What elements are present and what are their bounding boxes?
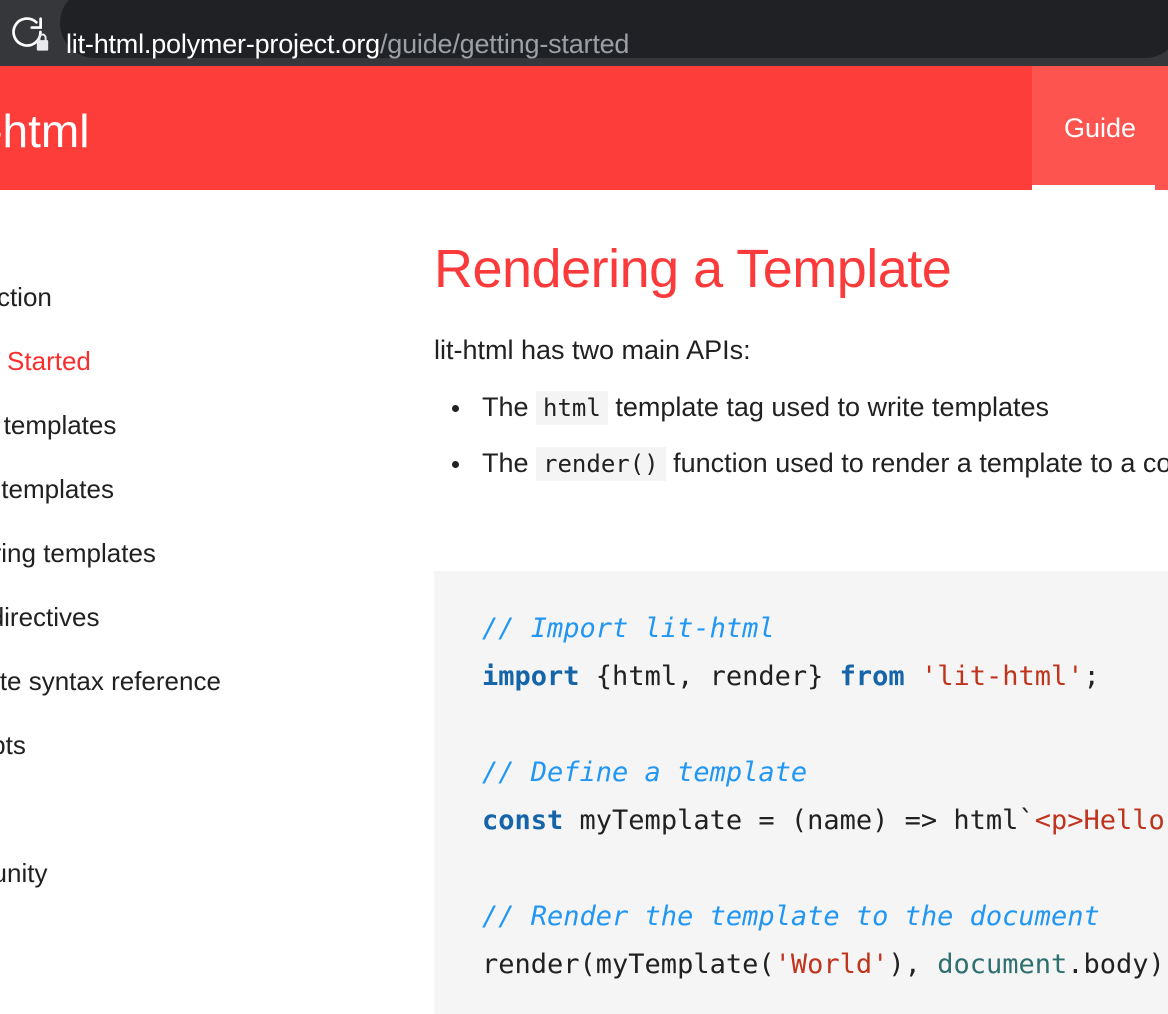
site-header: lit-html Guide <box>0 66 1168 190</box>
page-body: Introduction Getting Started Writing tem… <box>0 190 1168 1014</box>
sidebar-item-rendering-templates[interactable]: Rendering templates <box>0 538 156 568</box>
api-list: The html template tag used to write temp… <box>434 380 1168 492</box>
code-line <box>482 701 1168 749</box>
sidebar: Introduction Getting Started Writing tem… <box>0 190 434 1014</box>
sidebar-item-concepts[interactable]: Concepts <box>0 730 26 760</box>
code-line: const myTemplate = (name) => html`<p>Hel… <box>482 797 1168 845</box>
code-token-plain: render(myTemplate( <box>482 949 775 980</box>
code-token-string: <p>Hello ${name}</p> <box>1035 805 1168 836</box>
sidebar-item-template-syntax-reference[interactable]: Template syntax reference <box>0 666 221 696</box>
sidebar-item-introduction[interactable]: Introduction <box>0 282 52 312</box>
code-token-keyword: import <box>482 661 580 692</box>
code-line: // Define a template <box>482 749 1168 797</box>
code-token-comment: // Define a template <box>482 757 807 788</box>
main-content: Rendering a Template lit-html has two ma… <box>434 190 1168 1014</box>
code-token-keyword: from <box>840 661 905 692</box>
sidebar-item-writing-templates[interactable]: Writing templates <box>0 410 116 440</box>
intro-paragraph: lit-html has two main APIs: <box>434 334 751 366</box>
lock-icon <box>32 32 52 54</box>
list-item: The render() function used to render a t… <box>434 436 1168 492</box>
browser-toolbar: lit-html.polymer-project.org/guide/getti… <box>0 0 1168 66</box>
code-token-string: 'World' <box>775 949 889 980</box>
code-token-comment: // Import lit-html <box>482 613 775 644</box>
code-token-plain: ), <box>888 949 937 980</box>
code-token-plain <box>905 661 921 692</box>
list-item: The html template tag used to write temp… <box>434 380 1168 436</box>
sidebar-item-using-directives[interactable]: Using directives <box>0 602 100 632</box>
code-line: render(myTemplate('World'), document.bod… <box>482 941 1168 989</box>
url-text[interactable]: lit-html.polymer-project.org/guide/getti… <box>66 29 629 59</box>
code-token-string: 'lit-html' <box>921 661 1084 692</box>
api-item-suffix: function used to render a template to a … <box>666 448 1168 478</box>
code-line: // Import lit-html <box>482 605 1168 653</box>
code-token-plain: .body); <box>1067 949 1168 980</box>
code-line <box>482 845 1168 893</box>
bullet-icon <box>452 405 459 412</box>
code-token-plain: ; <box>1084 661 1100 692</box>
sidebar-item-getting-started[interactable]: Getting Started <box>0 346 91 376</box>
sidebar-item-styling-templates[interactable]: Styling templates <box>0 474 114 504</box>
code-line: import {html, render} from 'lit-html'; <box>482 653 1168 701</box>
nav-item-guide-label: Guide <box>1064 113 1136 143</box>
inline-code-render: render() <box>536 447 666 481</box>
code-line: // Render the template to the document <box>482 893 1168 941</box>
code-block[interactable]: // Import lit-htmlimport {html, render} … <box>434 571 1168 1014</box>
inline-code-html: html <box>536 391 608 425</box>
code-token-keyword: const <box>482 805 563 836</box>
code-token-comment: // Render the template to the document <box>482 901 1100 932</box>
code-token-builtin: document <box>937 949 1067 980</box>
site-logo[interactable]: lit-html <box>0 104 89 158</box>
code-token-plain: myTemplate = (name) => html` <box>563 805 1034 836</box>
url-path: /guide/getting-started <box>380 29 629 59</box>
nav-item-guide[interactable]: Guide <box>1032 66 1168 190</box>
url-host: lit-html.polymer-project.org <box>66 29 380 59</box>
bullet-icon <box>452 461 459 468</box>
code-token-plain: {html, render} <box>580 661 840 692</box>
api-item-prefix: The <box>482 392 536 422</box>
page-title: Rendering a Template <box>434 238 951 300</box>
api-item-prefix: The <box>482 448 536 478</box>
api-item-suffix: template tag used to write templates <box>608 392 1049 422</box>
sidebar-item-community[interactable]: Community <box>0 858 47 888</box>
